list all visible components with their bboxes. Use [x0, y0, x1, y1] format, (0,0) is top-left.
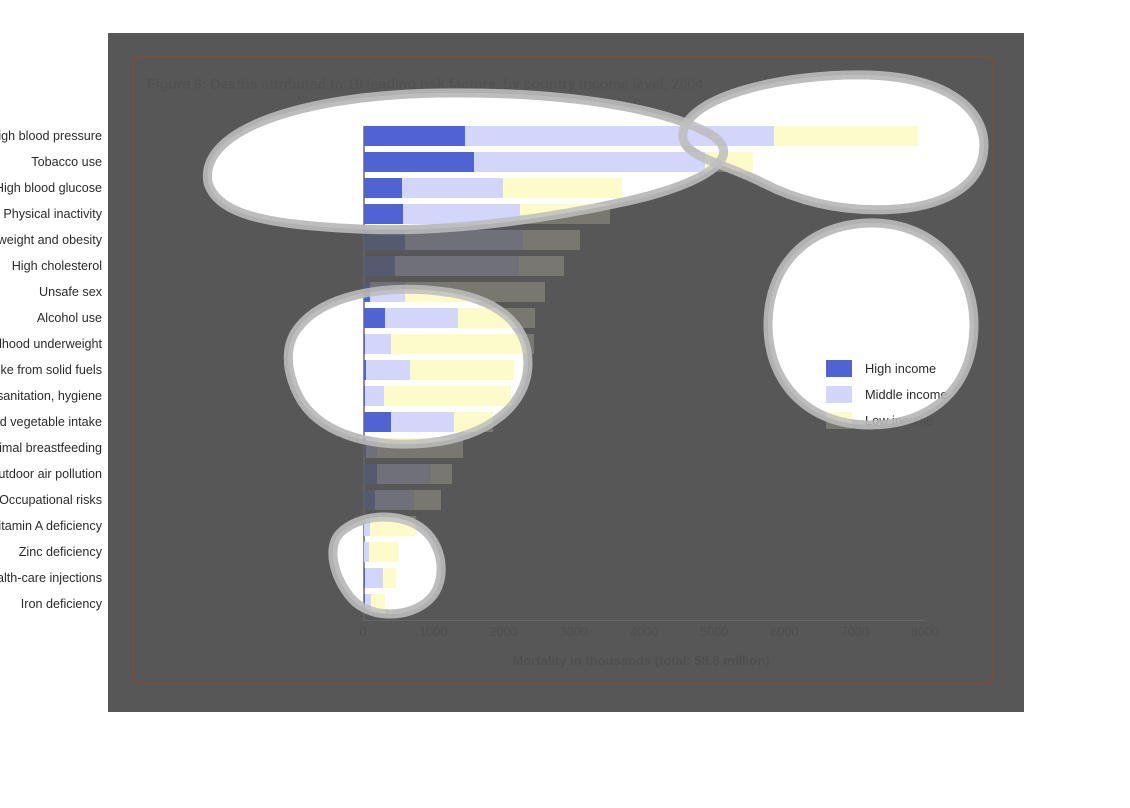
bar-category-label: Urban outdoor air pollution — [0, 465, 102, 483]
slide-panel: Figure 6: Deaths attributed to 19 leadin… — [108, 33, 1024, 712]
bar-category-label: Indoor smoke from solid fuels — [0, 361, 102, 379]
bar-category-label: Suboptimal breastfeeding — [0, 439, 102, 457]
bar-category-label: Unsafe health-care injections — [0, 569, 102, 587]
bar-category-label: Physical inactivity — [0, 205, 102, 223]
bar-category-label: High blood glucose — [0, 179, 102, 197]
bar-category-label: Childhood underweight — [0, 335, 102, 353]
bar-category-label: High blood pressure — [0, 127, 102, 145]
bar-category-label: Tobacco use — [0, 153, 102, 171]
bar-category-label: Alcohol use — [0, 309, 102, 327]
bar-category-label: Unsafe water, sanitation, hygiene — [0, 387, 102, 405]
bar-category-label: Occupational risks — [0, 491, 102, 509]
bar-category-label: Unsafe sex — [0, 283, 102, 301]
bar-category-label: High cholesterol — [0, 257, 102, 275]
bar-category-label: Iron deficiency — [0, 595, 102, 613]
bar-category-label: Vitamin A deficiency — [0, 517, 102, 535]
slide-border — [133, 56, 993, 684]
bar-category-label: Overweight and obesity — [0, 231, 102, 249]
bar-category-label: Low fruit and vegetable intake — [0, 413, 102, 431]
bar-category-label: Zinc deficiency — [0, 543, 102, 561]
